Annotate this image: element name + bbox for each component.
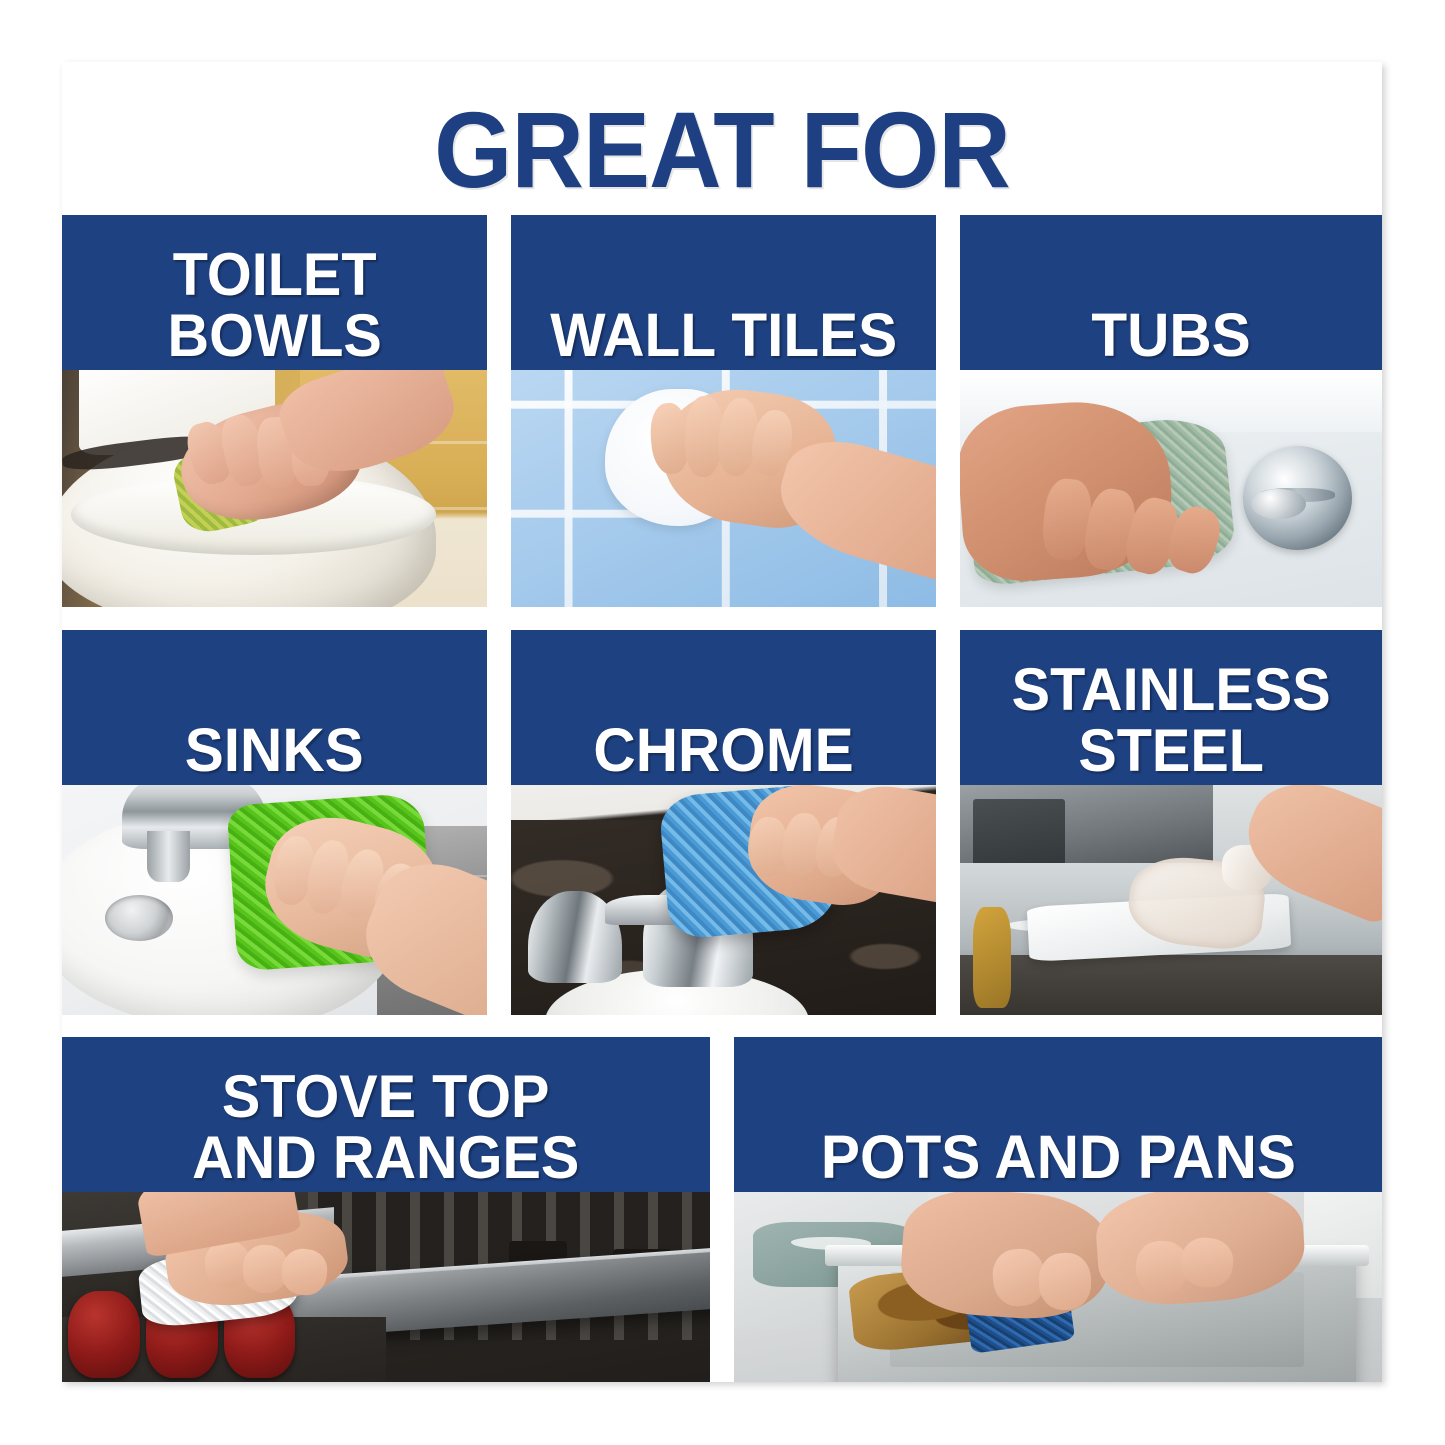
card-photo-pots-and-pans [734,1192,1382,1382]
feature-card-tubs: TUBS [960,215,1382,607]
feature-card-chrome: CHROME [511,630,936,1015]
card-photo-tubs [960,370,1382,607]
photo-scene-pots-and-pans [734,1192,1382,1382]
photo-scene-gas-range [62,1192,710,1382]
card-label-band: STOVE TOP AND RANGES [62,1037,710,1192]
card-label-band: STAINLESS STEEL [960,630,1382,785]
card-photo-wall-tiles [511,370,936,607]
card-photo-chrome [511,785,936,1015]
photo-scene-stainless-counter [960,785,1382,1015]
card-label-band: POTS AND PANS [734,1037,1382,1192]
card-label-wall-tiles: WALL TILES [542,304,904,366]
photo-scene-wall-tiles [511,370,936,607]
photo-scene-sink [62,785,487,1015]
card-label-stainless-steel: STAINLESS STEEL [1004,659,1338,781]
photo-scene-chrome-faucet [511,785,936,1015]
card-photo-toilet-bowls [62,370,487,607]
card-label-chrome: CHROME [586,719,862,781]
card-label-band: CHROME [511,630,936,785]
feature-card-wall-tiles: WALL TILES [511,215,936,607]
card-label-band: TUBS [960,215,1382,370]
feature-card-toilet-bowls: TOILET BOWLS [62,215,487,607]
card-photo-stainless-steel [960,785,1382,1015]
card-label-stove-top-and-ranges: STOVE TOP AND RANGES [185,1066,588,1188]
card-label-sinks: SINKS [177,719,371,781]
feature-card-stove-top-and-ranges: STOVE TOP AND RANGES [62,1037,710,1382]
card-label-tubs: TUBS [1084,304,1259,366]
infographic-page: GREAT FOR TOILET BOWLS [62,62,1382,1382]
photo-scene-tub [960,370,1382,607]
card-label-band: TOILET BOWLS [62,215,487,370]
feature-card-grid: TOILET BOWLS [62,62,1382,1382]
card-label-toilet-bowls: TOILET BOWLS [160,244,390,366]
feature-card-stainless-steel: STAINLESS STEEL [960,630,1382,1015]
photo-scene-toilet-bowl [62,370,487,607]
card-photo-sinks [62,785,487,1015]
feature-card-pots-and-pans: POTS AND PANS [734,1037,1382,1382]
card-label-band: SINKS [62,630,487,785]
card-photo-stove-top-and-ranges [62,1192,710,1382]
feature-card-sinks: SINKS [62,630,487,1015]
card-label-band: WALL TILES [511,215,936,370]
card-label-pots-and-pans: POTS AND PANS [813,1126,1303,1188]
